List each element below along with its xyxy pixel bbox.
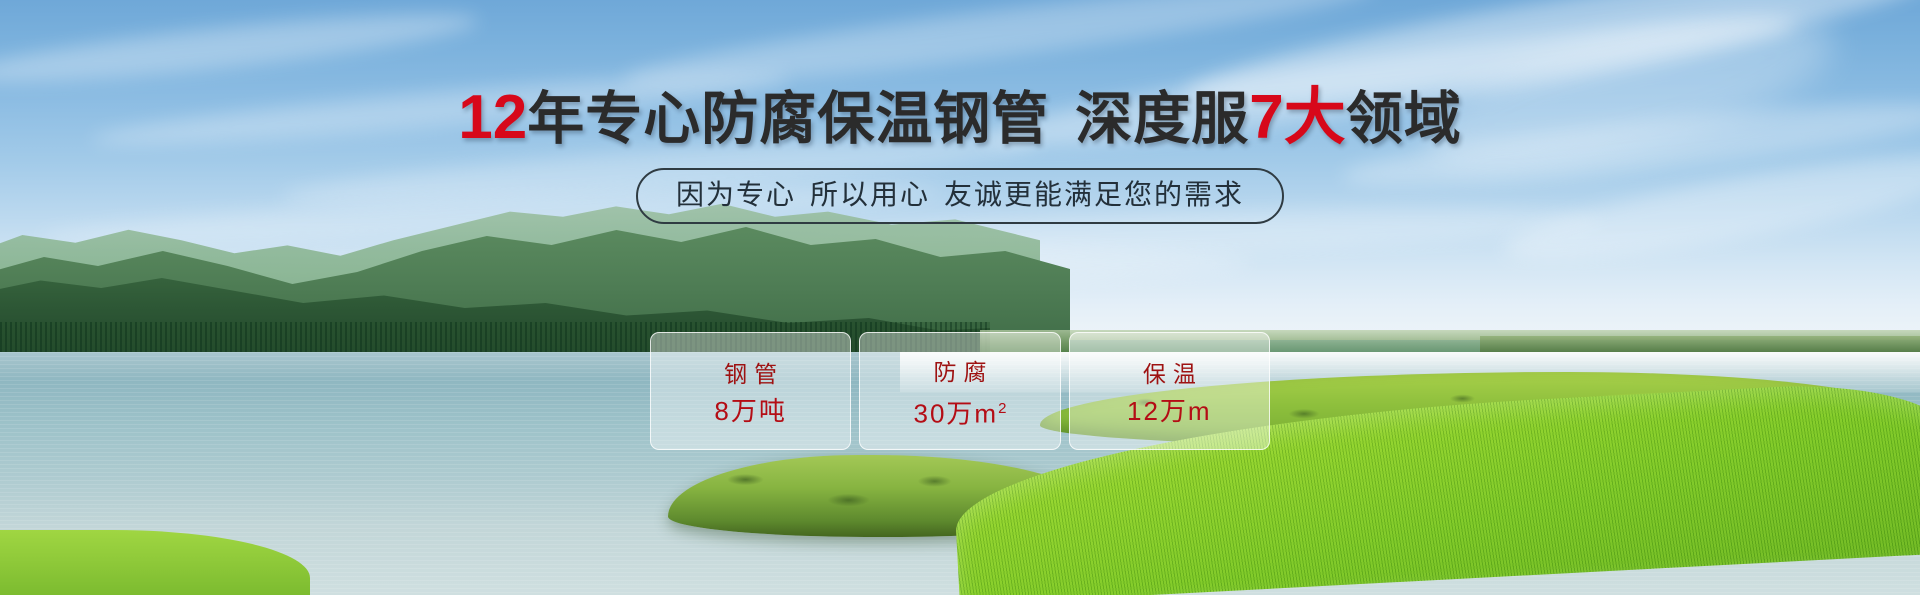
stat-card-insulation[interactable]: 保温 12万m [1069,332,1270,450]
stat-card-anticorrosion[interactable]: 防腐 30万m2 [859,332,1060,450]
banner-headline: 12年专心防腐保温钢管深度服7大领域 [0,86,1920,151]
stat-card-value: 12万m [1127,395,1212,427]
banner-content: 12年专心防腐保温钢管深度服7大领域 因为专心所以用心友诚更能满足您的需求 钢管… [0,0,1920,595]
headline-years-number: 12 [458,83,527,152]
subtitle-container: 因为专心所以用心友诚更能满足您的需求 [0,168,1920,224]
stat-card-title: 防腐 [926,357,993,387]
stat-value-text: 8万吨 [714,396,786,426]
headline-service-text: 深度服 [1075,87,1249,151]
stat-card-steel-pipe[interactable]: 钢管 8万吨 [650,332,851,450]
stat-card-title: 钢管 [717,359,784,389]
stat-card-title: 保温 [1136,359,1203,389]
stat-value-text: 12万m [1127,396,1212,426]
hero-banner: 12年专心防腐保温钢管深度服7大领域 因为专心所以用心友诚更能满足您的需求 钢管… [0,0,1920,595]
stat-value-superscript: 2 [998,400,1006,417]
subtitle-segment-3: 友诚更能满足您的需求 [944,179,1244,210]
headline-fields-count: 7大 [1249,83,1345,152]
stat-card-value: 30万m2 [914,393,1007,430]
subtitle-pill: 因为专心所以用心友诚更能满足您的需求 [636,168,1284,224]
headline-main-text: 年专心防腐保温钢管 [527,87,1049,151]
subtitle-segment-1: 因为专心 [676,179,796,210]
headline-fields-text: 领域 [1346,87,1462,151]
stat-card-value: 8万吨 [714,395,786,427]
stat-card-group: 钢管 8万吨 防腐 30万m2 保温 12万m [650,332,1270,450]
subtitle-segment-2: 所以用心 [810,179,930,210]
stat-value-text: 30万m [914,398,999,428]
